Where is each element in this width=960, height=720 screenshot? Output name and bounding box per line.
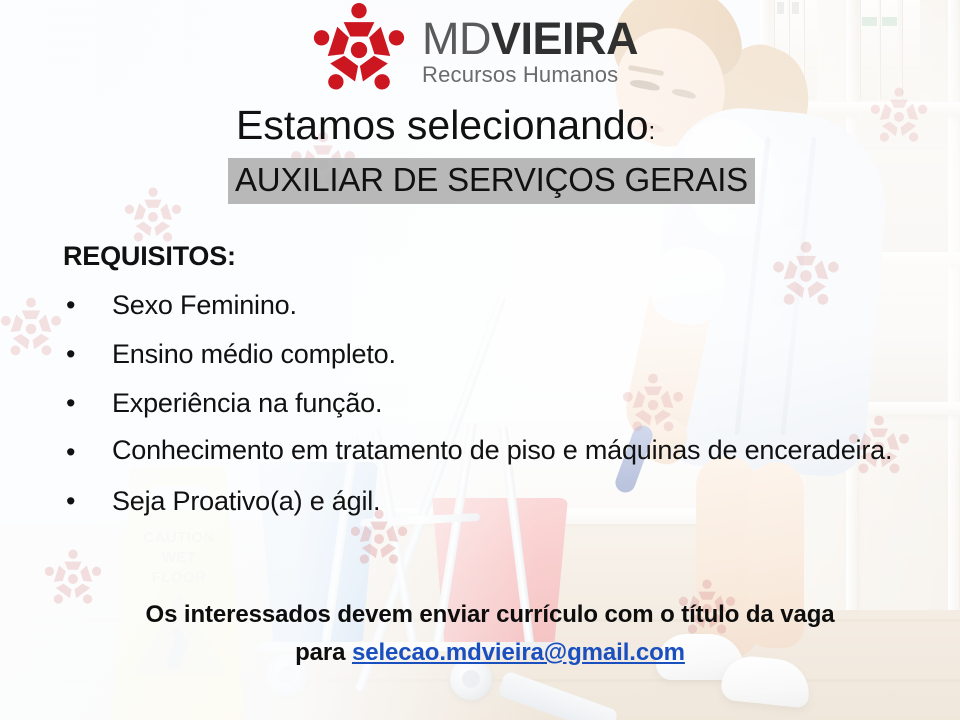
logo-company-name: MDVIEIRA — [422, 16, 638, 62]
contact-line-2: para selecao.mdvieira@gmail.com — [60, 634, 920, 672]
bullet-icon: • — [63, 381, 112, 425]
people-star-icon — [306, 2, 412, 98]
requirements-heading: REQUISITOS: — [63, 240, 236, 272]
contact-line-1: Os interessados devem enviar currículo c… — [60, 596, 920, 634]
list-item: • Seja Proativo(a) e ágil. — [63, 479, 893, 523]
watermark-star-icon — [122, 186, 184, 248]
watermark-star-icon — [868, 86, 930, 148]
list-item: • Conhecimento em tratamento de piso e m… — [63, 430, 893, 474]
job-title-badge: AUXILIAR DE SERVIÇOS GERAIS — [228, 158, 755, 204]
list-item-label: Experiência na função. — [112, 381, 893, 425]
page-title: Estamos selecionando: — [236, 100, 776, 157]
job-ad-poster: CAUTION WET FLOOR — [0, 0, 960, 720]
list-item-label: Seja Proativo(a) e ágil. — [112, 479, 893, 523]
headline-colon: : — [649, 118, 656, 145]
headline-text: Estamos selecionando — [236, 102, 649, 148]
logo-tagline: Recursos Humanos — [422, 62, 638, 88]
company-logo: MDVIEIRA Recursos Humanos — [306, 2, 638, 98]
logo-wordmark: MDVIEIRA Recursos Humanos — [422, 12, 638, 88]
contact-instructions: Os interessados devem enviar currículo c… — [60, 596, 920, 672]
email-link[interactable]: selecao.mdvieira@gmail.com — [352, 639, 685, 666]
logo-name-prefix: MD — [422, 13, 491, 64]
watermark-star-icon — [0, 296, 64, 362]
bullet-icon: • — [63, 332, 112, 376]
bullet-icon: • — [63, 430, 112, 474]
logo-name-main: VIEIRA — [491, 13, 638, 64]
contact-line-2-prefix: para — [295, 639, 352, 666]
list-item-label: Ensino médio completo. — [112, 332, 893, 376]
list-item-label: Conhecimento em tratamento de piso e máq… — [112, 430, 893, 474]
bullet-icon: • — [63, 479, 112, 523]
bullet-icon: • — [63, 283, 112, 327]
list-item: • Experiência na função. — [63, 381, 893, 425]
list-item: • Ensino médio completo. — [63, 332, 893, 376]
requirements-list: • Sexo Feminino. • Ensino médio completo… — [63, 283, 893, 528]
list-item-label: Sexo Feminino. — [112, 283, 893, 327]
list-item: • Sexo Feminino. — [63, 283, 893, 327]
